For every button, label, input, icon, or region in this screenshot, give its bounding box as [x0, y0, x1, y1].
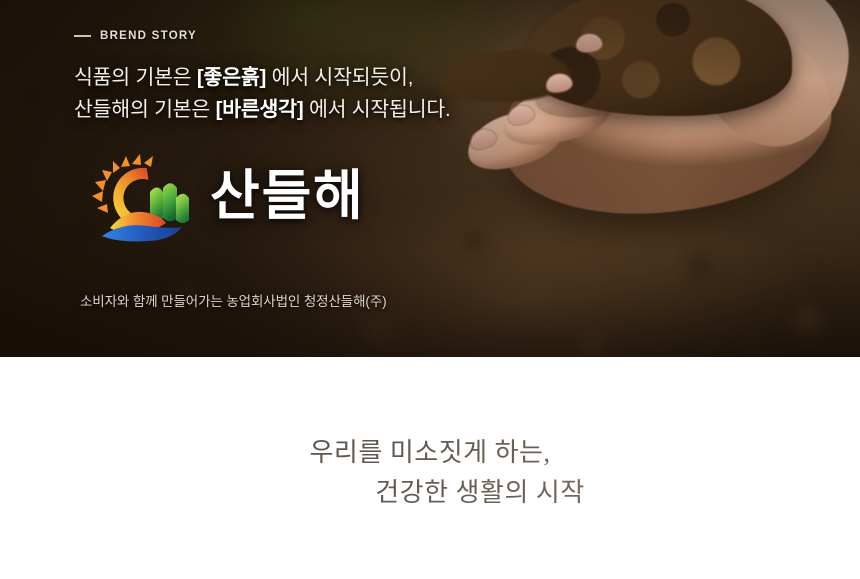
eyebrow-text: BREND STORY — [100, 30, 197, 42]
headline-line-2-pre: 산들해의 기본은 — [74, 98, 216, 121]
hero-headline: 식품의 기본은 [좋은흙] 에서 시작되듯이, 산들해의 기본은 [바른생각] … — [74, 62, 634, 126]
headline-line-1-post: 에서 시작되듯이, — [266, 66, 413, 89]
hero-banner: BREND STORY 식품의 기본은 [좋은흙] 에서 시작되듯이, 산들해의… — [0, 0, 860, 357]
dash-icon — [74, 35, 91, 37]
eyebrow-label: BREND STORY — [74, 30, 634, 42]
brand-wordmark: 산들해 — [210, 169, 365, 227]
slogan-line-2: 건강한 생활의 시작 — [0, 473, 860, 513]
slogan-section: 우리를 미소짓게 하는, 건강한 생활의 시작 — [0, 357, 860, 579]
slogan-block: 우리를 미소짓게 하는, 건강한 생활의 시작 — [0, 433, 860, 512]
headline-line-1-emphasis: [좋은흙] — [197, 66, 266, 89]
slogan-line-1: 우리를 미소짓게 하는, — [0, 433, 860, 473]
headline-line-2-post: 에서 시작됩니다. — [303, 98, 450, 121]
headline-line-1: 식품의 기본은 [좋은흙] 에서 시작되듯이, — [74, 62, 634, 94]
sandeulhae-logo-icon — [88, 148, 196, 248]
hero-copy-block: BREND STORY 식품의 기본은 [좋은흙] 에서 시작되듯이, 산들해의… — [74, 30, 634, 126]
brand-logo-lockup[interactable]: 산들해 — [88, 148, 365, 248]
company-tagline: 소비자와 함께 만들어가는 농업회사법인 청정산들해(주) — [80, 290, 387, 310]
headline-line-2: 산들해의 기본은 [바른생각] 에서 시작됩니다. — [74, 94, 634, 126]
headline-line-2-emphasis: [바른생각] — [216, 98, 304, 121]
headline-line-1-pre: 식품의 기본은 — [74, 66, 197, 89]
brand-story-page: BREND STORY 식품의 기본은 [좋은흙] 에서 시작되듯이, 산들해의… — [0, 0, 860, 579]
